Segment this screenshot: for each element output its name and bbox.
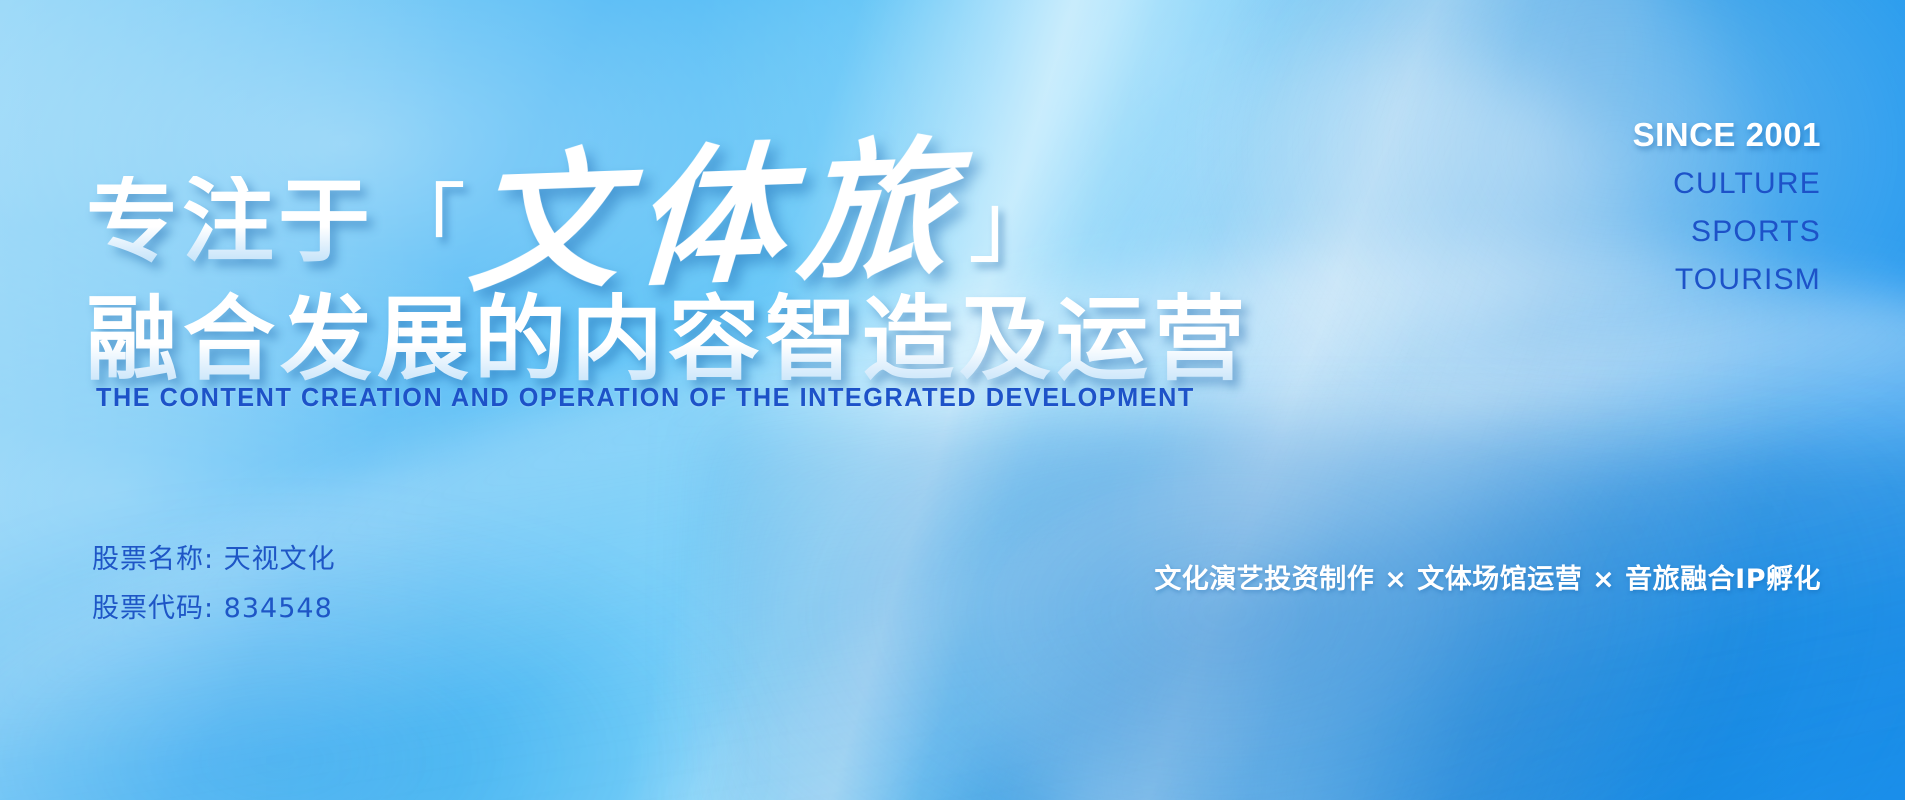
business-tagline: 文化演艺投资制作 × 文体场馆运营 × 音旅融合IP孵化	[1154, 557, 1821, 596]
keyword-tourism: TOURISM	[1633, 265, 1821, 295]
headline-line-1: 专注于 「 文体旅 」	[86, 138, 1250, 268]
keyword-sports: SPORTS	[1633, 217, 1821, 247]
stock-name-row: 股票名称: 天视文化	[92, 546, 336, 573]
bracket-open-glyph: 「	[380, 182, 466, 268]
headline-block: 专注于 「 文体旅 」 融合发展的内容智造及运营	[86, 138, 1250, 386]
headline-brush-keyword: 文体旅	[466, 144, 966, 290]
headline-subline: 融合发展的内容智造及运营	[86, 286, 1250, 393]
stock-code-row: 股票代码: 834548	[92, 595, 336, 622]
bracket-close-glyph: 」	[968, 182, 1054, 268]
right-keyword-column: SINCE 2001 CULTURE SPORTS TOURISM	[1633, 118, 1821, 295]
stock-info-block: 股票名称: 天视文化 股票代码: 834548	[92, 546, 336, 622]
keyword-culture: CULTURE	[1633, 169, 1821, 199]
headline-prefix: 专注于	[86, 176, 374, 268]
headline-line-2: 融合发展的内容智造及运营	[86, 294, 1250, 386]
english-subtitle: THE CONTENT CREATION AND OPERATION OF TH…	[96, 382, 1195, 413]
since-label: SINCE 2001	[1633, 118, 1821, 151]
banner-canvas: 专注于 「 文体旅 」 融合发展的内容智造及运营 THE CONTENT CRE…	[0, 0, 1905, 800]
